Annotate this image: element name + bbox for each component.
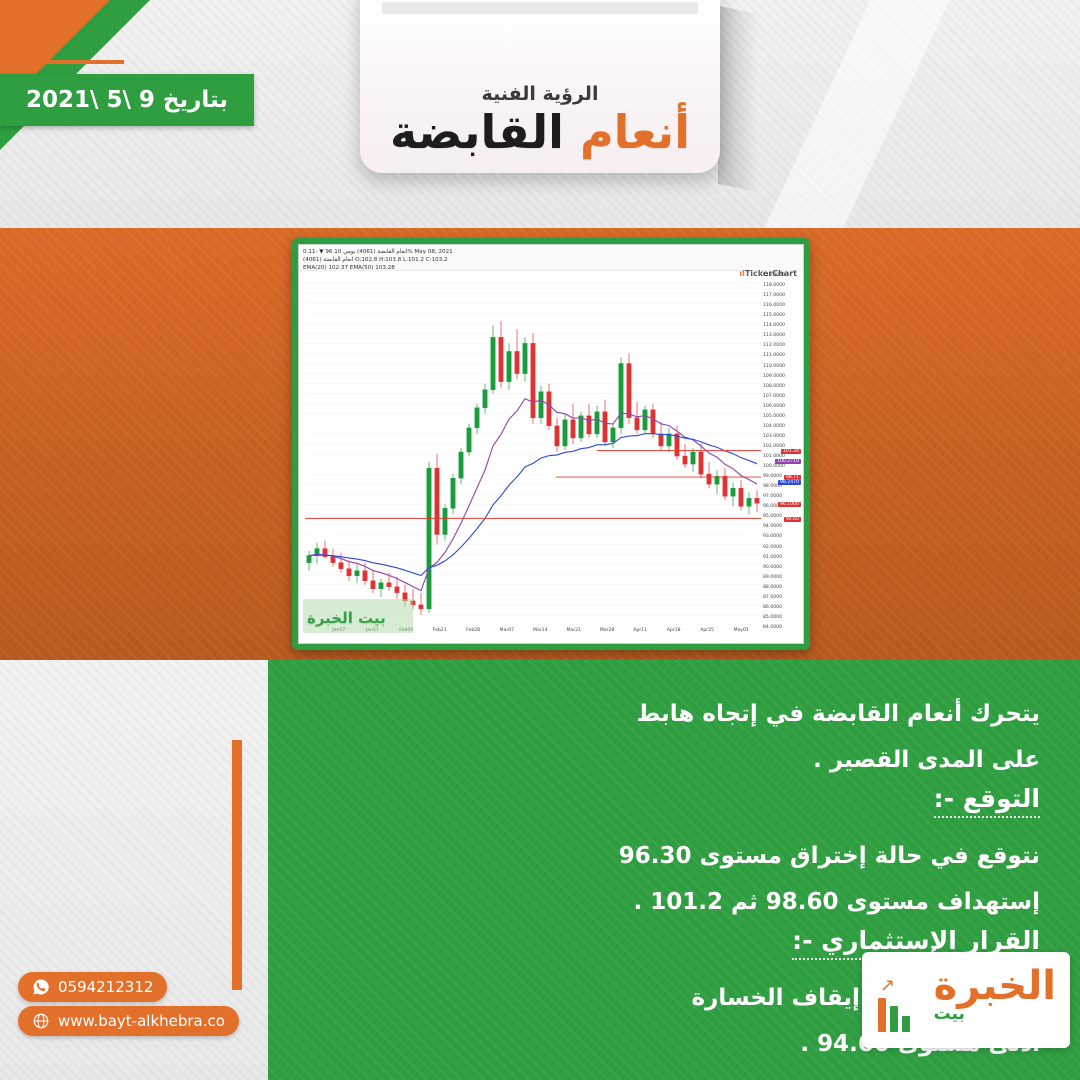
y-tick-label: 117.0000 (763, 293, 785, 298)
x-tick-label: Mar14 (533, 628, 548, 633)
globe-icon (32, 1012, 50, 1030)
chart-watermark: بيت الخبرة (307, 609, 386, 627)
x-tick-label: Mar21 (566, 628, 581, 633)
forecast-heading: التوقع -: (300, 784, 1040, 818)
y-tick-label: 86.0000 (763, 605, 782, 610)
orange-accent-bar (232, 740, 242, 990)
whatsapp-contact[interactable]: 0594212312 (18, 972, 167, 1002)
chart-header: انعام القابضة (4061) يومي 96.10 ▼ -0.11%… (299, 245, 803, 271)
date-rule-decoration (14, 60, 124, 64)
price-badge: 101.34 (781, 449, 801, 454)
y-tick-label: 106.0000 (763, 404, 785, 409)
website-contact[interactable]: www.bayt-alkhebra.co (18, 1006, 239, 1036)
y-tick-label: 98.0000 (763, 484, 782, 489)
x-tick-label: Apr18 (667, 628, 681, 633)
chart-canvas[interactable]: انعام القابضة (4061) يومي 96.10 ▼ -0.11%… (298, 244, 804, 644)
analysis-line-2: على المدى القصير . (300, 738, 1040, 782)
logo-arrow-icon: ↗ (880, 975, 895, 996)
y-tick-label: 100.0000 (763, 464, 785, 469)
y-tick-label: 103.0000 (763, 434, 785, 439)
whatsapp-icon (32, 978, 50, 996)
price-badge: 98.2470 (778, 480, 801, 485)
y-tick-label: 97.0000 (763, 494, 782, 499)
y-tick-label: 116.0000 (763, 303, 785, 308)
page-title-black: القابضة (390, 105, 564, 159)
y-tick-label: 84.0000 (763, 625, 782, 630)
y-tick-label: 107.0000 (763, 394, 785, 399)
analysis-line-1: يتحرك أنعام القابضة في إتجاه هابط (300, 692, 1040, 736)
candlestick-svg (305, 273, 761, 625)
analysis-line-3: نتوقع في حالة إختراق مستوى 96.30 (300, 834, 1040, 878)
chart-ohlc-line: انعام القابضة (4061) O:102.8 H:103.8 L:1… (303, 256, 799, 264)
logo-bars-icon (878, 998, 910, 1032)
y-tick-label: 95.0000 (763, 514, 782, 519)
page-title-orange: أنعام (580, 105, 690, 159)
chart-symbol-line: انعام القابضة (4061) يومي 96.10 ▼ -0.11%… (303, 248, 799, 256)
brand-logo: الخبرة بيت ↗ (862, 952, 1070, 1048)
y-tick-label: 113.0000 (763, 333, 785, 338)
y-tick-label: 104.0000 (763, 424, 785, 429)
price-badge: 96.1000 (778, 502, 801, 507)
y-tick-label: 119.0000 (763, 273, 785, 278)
y-tick-label: 90.0000 (763, 565, 782, 570)
y-tick-label: 105.0000 (763, 414, 785, 419)
x-tick-label: May01 (734, 628, 749, 633)
whatsapp-number: 0594212312 (58, 978, 153, 996)
y-tick-label: 93.0000 (763, 534, 782, 539)
y-tick-label: 99.0000 (763, 474, 782, 479)
y-tick-label: 112.0000 (763, 343, 785, 348)
y-tick-label: 88.0000 (763, 585, 782, 590)
x-tick-label: Feb21 (433, 628, 447, 633)
x-tick-label: Mar28 (600, 628, 615, 633)
y-tick-label: 92.0000 (763, 545, 782, 550)
x-tick-label: Apr11 (633, 628, 647, 633)
y-tick-label: 114.0000 (763, 323, 785, 328)
header-band: بتاريخ 9 \5 \2021 الرؤية الفنية أنعام ال… (0, 0, 1080, 228)
y-tick-label: 87.0000 (763, 595, 782, 600)
chart-ma-line: EMA(20) 102.37 EMA(50) 103.28 (303, 264, 799, 272)
price-badge: 94.60 (784, 517, 801, 522)
x-tick-label: Mar07 (500, 628, 515, 633)
y-tick-label: 94.0000 (763, 524, 782, 529)
title-card-top-bar (382, 2, 698, 14)
chart-plot-area (305, 273, 761, 625)
logo-word: الخبرة بيت (934, 966, 1056, 1023)
y-tick-label: 109.0000 (763, 374, 785, 379)
y-tick-label: 89.0000 (763, 575, 782, 580)
chart-frame: انعام القابضة (4061) يومي 96.10 ▼ -0.11%… (292, 238, 810, 650)
y-tick-label: 118.0000 (763, 283, 785, 288)
title-card-shadow (718, 6, 758, 193)
y-tick-label: 111.0000 (763, 353, 785, 358)
date-badge: بتاريخ 9 \5 \2021 (0, 74, 254, 126)
website-url: www.bayt-alkhebra.co (58, 1012, 225, 1030)
analysis-line-4: إستهداف مستوى 98.60 ثم 101.2 . (300, 880, 1040, 924)
y-tick-label: 115.0000 (763, 313, 785, 318)
y-tick-label: 110.0000 (763, 364, 785, 369)
y-tick-label: 91.0000 (763, 555, 782, 560)
x-tick-label: Apr25 (700, 628, 714, 633)
price-badge: 100.2710 (775, 459, 801, 464)
y-tick-label: 85.0000 (763, 615, 782, 620)
title-card: الرؤية الفنية أنعام القابضة (360, 0, 720, 173)
y-tick-label: 108.0000 (763, 384, 785, 389)
page-subtitle: الرؤية الفنية (482, 83, 599, 105)
page-title: أنعام القابضة (390, 109, 690, 155)
x-tick-label: Feb28 (466, 628, 480, 633)
